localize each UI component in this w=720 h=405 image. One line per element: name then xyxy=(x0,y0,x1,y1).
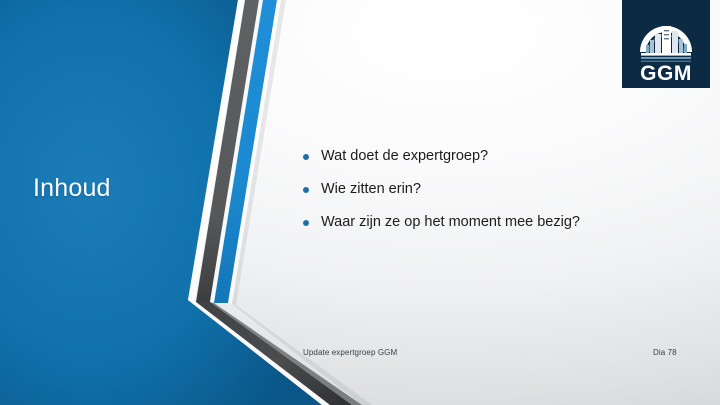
list-item-label: Wat doet de expertgroep? xyxy=(321,147,488,166)
bullet-dot-icon xyxy=(303,187,309,193)
slide-number: Dia 78 xyxy=(653,348,677,357)
list-item-label: Wie zitten erin? xyxy=(321,180,421,199)
ggm-arch-skyline-emblem: GGM xyxy=(622,0,710,88)
list-item-label: Waar zijn ze op het moment mee bezig? xyxy=(321,213,580,232)
slide-title: Inhoud xyxy=(33,172,223,204)
slide-footer-note: Update expertgroep GGM xyxy=(303,348,397,357)
content-bullet-list: Wat doet de expertgroep? Wie zitten erin… xyxy=(303,147,633,232)
list-item: Waar zijn ze op het moment mee bezig? xyxy=(303,213,633,232)
list-item: Wie zitten erin? xyxy=(303,180,633,199)
list-item: Wat doet de expertgroep? xyxy=(303,147,633,166)
ggm-logo: GGM xyxy=(622,0,710,88)
svg-text:GGM: GGM xyxy=(640,62,692,85)
presentation-slide: Inhoud Wat doet de expertgroep? Wie zitt… xyxy=(0,0,720,405)
bullet-dot-icon xyxy=(303,220,309,226)
bullet-dot-icon xyxy=(303,154,309,160)
